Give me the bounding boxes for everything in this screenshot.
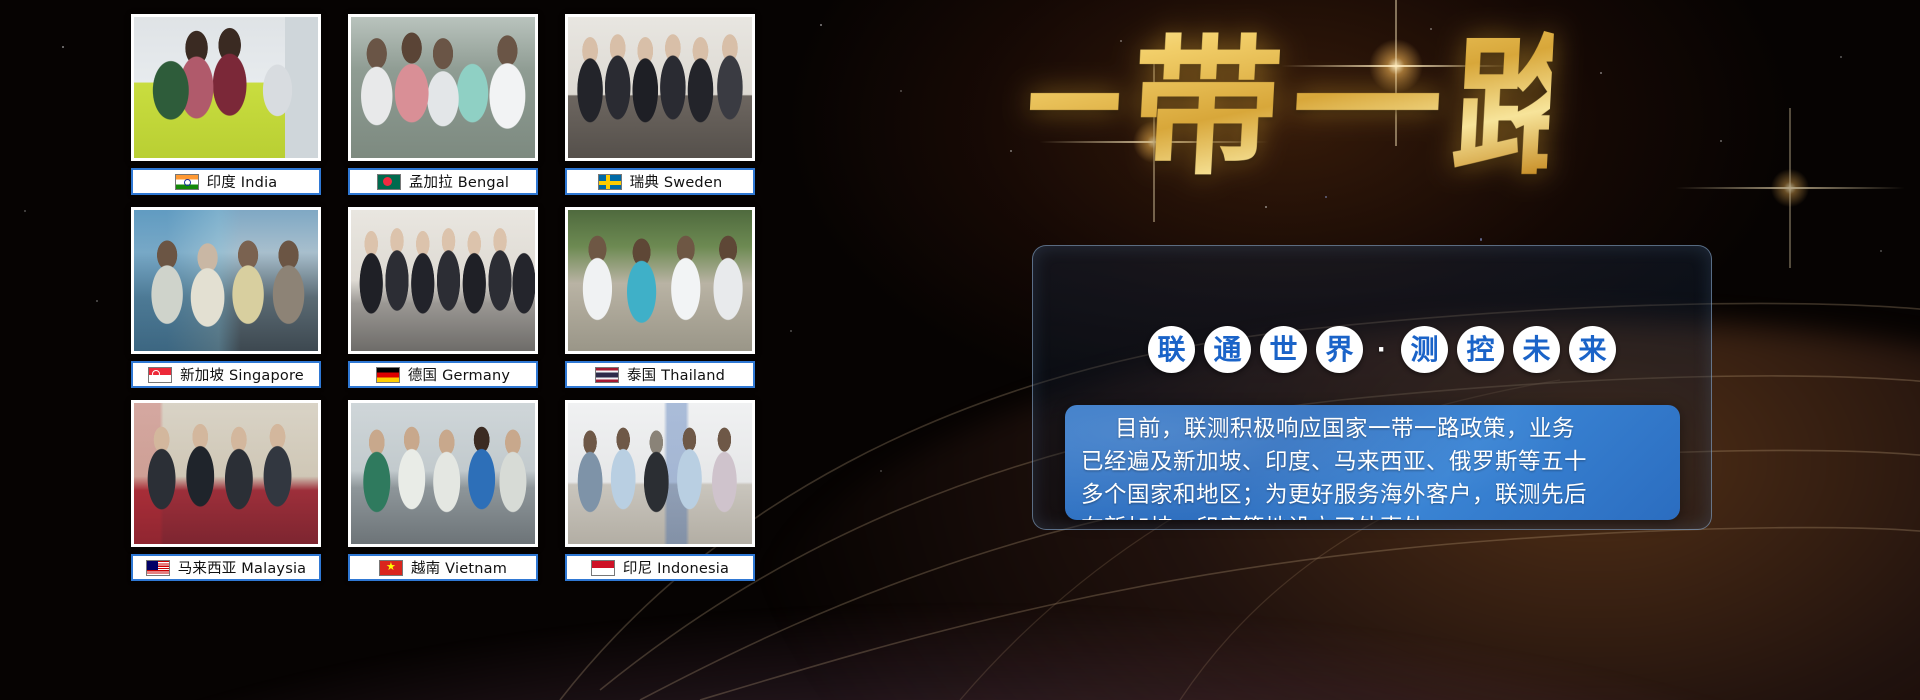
flag-bangladesh-icon [377, 174, 401, 190]
flag-singapore-icon [148, 367, 172, 383]
country-label-text: 印度 India [207, 171, 278, 192]
flag-vietnam-icon [379, 560, 403, 576]
slogan-char: 联 [1148, 326, 1195, 373]
country-label: 新加坡 Singapore [131, 361, 321, 388]
photo-thumbnail[interactable] [131, 207, 321, 354]
photo-thumbnail[interactable] [565, 207, 755, 354]
description-box: 目前，联测积极响应国家一带一路政策，业务 已经遍及新加坡、印度、马来西亚、俄罗斯… [1065, 405, 1680, 520]
flag-germany-icon [376, 367, 400, 383]
gallery-item: 马来西亚 Malaysia [131, 400, 321, 581]
headline-calligraphy: 一 带 一 路 [1025, 8, 1555, 208]
flag-india-icon [175, 174, 199, 190]
description-line: 多个国家和地区；为更好服务海外客户，联测先后 [1081, 479, 1664, 512]
country-label-text: 越南 Vietnam [411, 557, 507, 578]
photo-thumbnail[interactable] [131, 14, 321, 161]
gallery-item: 越南 Vietnam [348, 400, 538, 581]
headline-char: 一 [968, 33, 1132, 183]
country-label: 德国 Germany [348, 361, 538, 388]
country-label-text: 新加坡 Singapore [180, 364, 304, 385]
slogan-char: 测 [1401, 326, 1448, 373]
gallery-item: 印度 India [131, 14, 321, 195]
description-text: 目前，联测积极响应国家一带一路政策，业务 已经遍及新加坡、印度、马来西亚、俄罗斯… [1065, 405, 1680, 520]
description-line: 在新加坡、印度等地设立了外事处。 [1081, 512, 1664, 520]
country-label-text: 印尼 Indonesia [623, 557, 729, 578]
photo-thumbnail[interactable] [565, 400, 755, 547]
description-line: 目前，联测积极响应国家一带一路政策，业务 [1081, 413, 1664, 446]
country-label: 瑞典 Sweden [565, 168, 755, 195]
slogan-char: 世 [1260, 326, 1307, 373]
lens-flare-bottom [1770, 168, 1810, 208]
gallery-item: 印尼 Indonesia [565, 400, 755, 581]
banner-stage: 印度 India 孟加拉 Bengal 瑞典 Sweden [0, 0, 1920, 700]
description-line: 已经遍及新加坡、印度、马来西亚、俄罗斯等五十 [1081, 446, 1664, 479]
country-label-text: 德国 Germany [408, 364, 510, 385]
slogan-char: 通 [1204, 326, 1251, 373]
country-label-text: 孟加拉 Bengal [409, 171, 509, 192]
slogan-char: 界 [1316, 326, 1363, 373]
flag-indonesia-icon [591, 560, 615, 576]
photo-thumbnail[interactable] [348, 14, 538, 161]
gallery-item: 新加坡 Singapore [131, 207, 321, 388]
photo-thumbnail[interactable] [348, 400, 538, 547]
headline-char: 一 [1288, 33, 1452, 183]
country-photo-grid: 印度 India 孟加拉 Bengal 瑞典 Sweden [131, 14, 756, 586]
country-label: 印度 India [131, 168, 321, 195]
slogan-char: 未 [1513, 326, 1560, 373]
flag-thailand-icon [595, 367, 619, 383]
flag-malaysia-icon [146, 560, 170, 576]
country-label-text: 马来西亚 Malaysia [178, 557, 307, 578]
slogan-char: 来 [1569, 326, 1616, 373]
gallery-item: 德国 Germany [348, 207, 538, 388]
country-label-text: 泰国 Thailand [627, 364, 725, 385]
country-label: 印尼 Indonesia [565, 554, 755, 581]
country-label-text: 瑞典 Sweden [630, 171, 723, 192]
photo-thumbnail[interactable] [348, 207, 538, 354]
headline-char: 带 [1128, 33, 1292, 183]
flag-sweden-icon [598, 174, 622, 190]
gallery-item: 瑞典 Sweden [565, 14, 755, 195]
photo-thumbnail[interactable] [131, 400, 321, 547]
gallery-item: 泰国 Thailand [565, 207, 755, 388]
country-label: 孟加拉 Bengal [348, 168, 538, 195]
country-label: 越南 Vietnam [348, 554, 538, 581]
slogan-row: 联 通 世 界 · 测 控 未 来 [1148, 326, 1616, 373]
country-label: 马来西亚 Malaysia [131, 554, 321, 581]
headline-char: 路 [1448, 33, 1612, 183]
slogan-separator-dot: · [1372, 333, 1392, 367]
slogan-char: 控 [1457, 326, 1504, 373]
country-label: 泰国 Thailand [565, 361, 755, 388]
gallery-item: 孟加拉 Bengal [348, 14, 538, 195]
photo-thumbnail[interactable] [565, 14, 755, 161]
